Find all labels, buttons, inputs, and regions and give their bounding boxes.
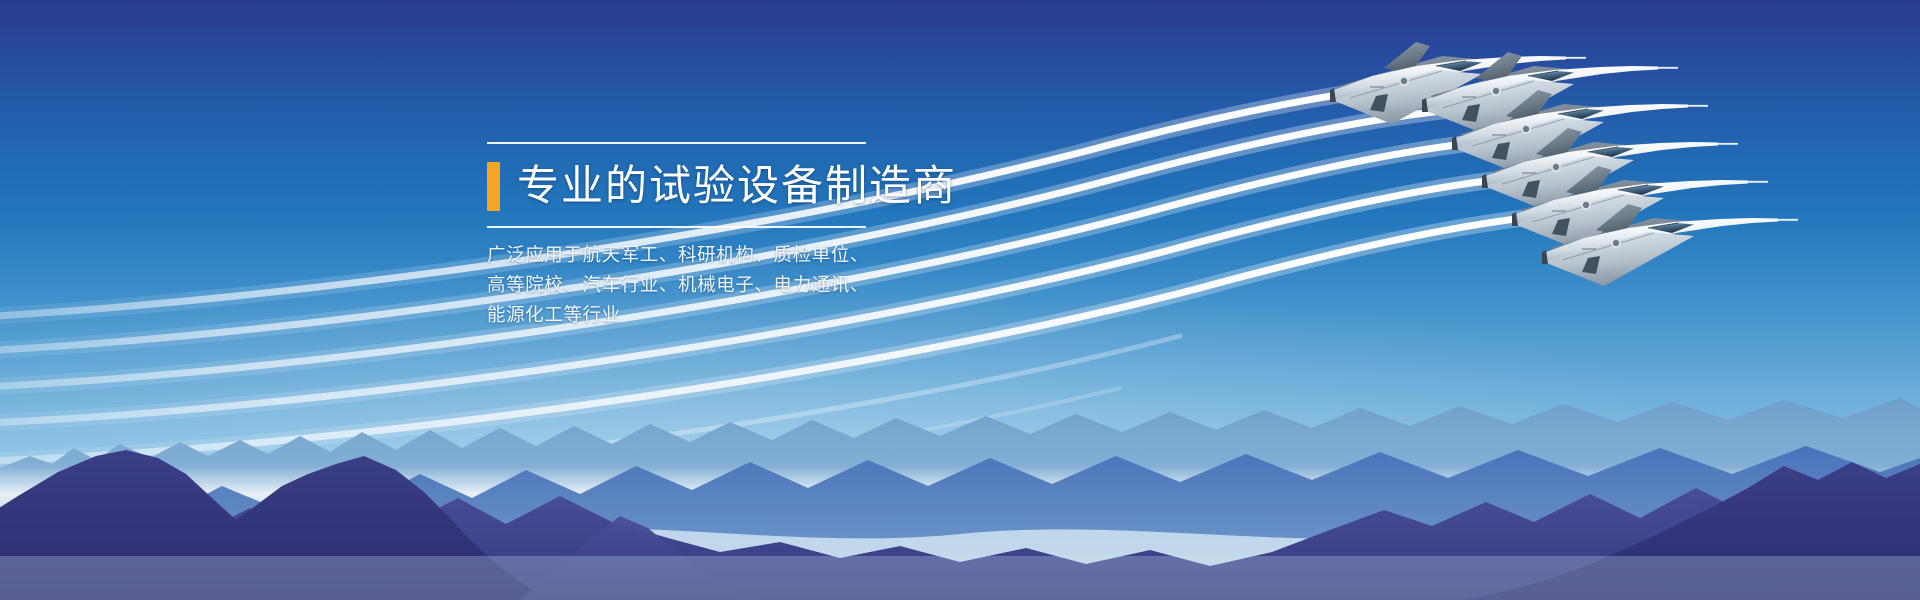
accent-bar-icon (487, 162, 500, 211)
subtitle-line-1: 广泛应用于航天军工、科研机构、质检单位、 (487, 241, 1007, 271)
hero-banner: 专业的试验设备制造商 广泛应用于航天军工、科研机构、质检单位、 高等院校、汽车行… (0, 0, 1920, 600)
jet-formation (1390, 40, 1920, 310)
subtitle-block: 广泛应用于航天军工、科研机构、质检单位、 高等院校、汽车行业、机械电子、电力通讯… (487, 241, 1007, 331)
subtitle-line-3: 能源化工等行业 (487, 301, 1007, 331)
banner-copy: 专业的试验设备制造商 广泛应用于航天军工、科研机构、质检单位、 高等院校、汽车行… (487, 142, 1007, 331)
headline-row: 专业的试验设备制造商 (487, 155, 1007, 217)
mountain-range (0, 370, 1920, 600)
page-title: 专业的试验设备制造商 (517, 165, 957, 207)
headline-rule-bottom (487, 226, 866, 228)
subtitle-line-2: 高等院校、汽车行业、机械电子、电力通讯、 (487, 271, 1007, 301)
headline-rule-top (487, 142, 866, 144)
